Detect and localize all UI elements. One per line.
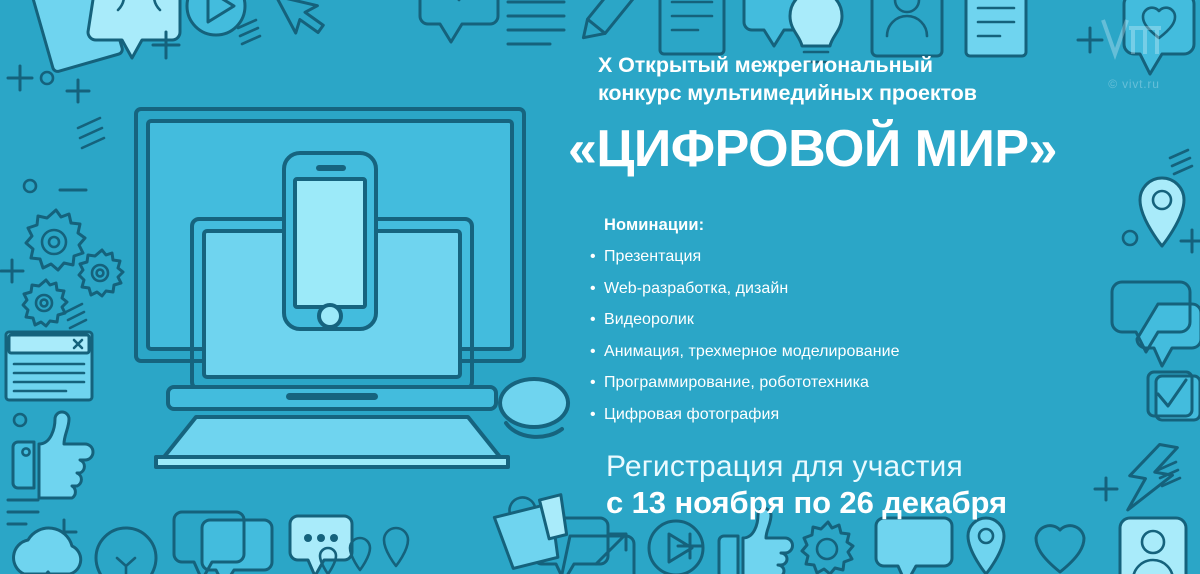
circle-dot-icon	[24, 180, 36, 192]
list-item-label: Программирование, робототехника	[604, 374, 869, 392]
list-item-label: Цифровая фотография	[604, 406, 779, 424]
circle-dot-icon	[14, 414, 26, 426]
gear-icon	[26, 210, 85, 270]
arrow-up-icon	[596, 534, 626, 564]
nominations-section: Номинации: • Презентация • Web-разработк…	[604, 216, 1158, 424]
heart-icon	[1036, 526, 1084, 572]
watermark-text: © vivt.ru	[1080, 77, 1188, 91]
bullet-icon: •	[590, 312, 604, 328]
watermark: © vivt.ru	[1080, 14, 1188, 106]
list-item: • Анимация, трехмерное моделирование	[590, 343, 1158, 361]
list-lines-icon	[508, 0, 564, 44]
shopping-bag-icon	[491, 488, 575, 570]
speed-lines-icon	[78, 118, 104, 148]
list-item: • Программирование, робототехника	[590, 374, 1158, 392]
browser-window-icon	[6, 332, 92, 400]
bullet-icon: •	[590, 344, 604, 360]
registration-dates: с 13 ноября по 26 декабря	[606, 486, 1158, 521]
page-title: «ЦИФРОВОЙ МИР»	[568, 122, 1158, 177]
avatar-icon	[1120, 518, 1186, 574]
gear-icon	[79, 250, 123, 296]
document-icon	[660, 0, 724, 54]
speed-lines-icon	[1170, 150, 1192, 174]
list-item-label: Видеоролик	[604, 311, 694, 329]
kicker-line-1: X Открытый межрегиональный	[598, 52, 1158, 80]
list-item-label: Анимация, трехмерное моделирование	[604, 343, 900, 361]
computer-mouse	[500, 379, 568, 437]
poster-canvas: .ln{fill:none;stroke:#15627c;stroke-widt…	[0, 0, 1200, 574]
nominations-heading: Номинации:	[604, 216, 1158, 235]
plus-icon	[1181, 230, 1200, 252]
list-item: • Цифровая фотография	[590, 406, 1158, 424]
play-button-icon	[187, 0, 245, 35]
smartphone	[284, 153, 376, 329]
text-column: X Открытый межрегиональный конкурс мульт…	[598, 52, 1158, 522]
user-card-icon	[872, 0, 942, 56]
registration-section: Регистрация для участия с 13 ноября по 2…	[606, 450, 1158, 520]
kicker: X Открытый межрегиональный конкурс мульт…	[598, 52, 1158, 108]
plus-icon	[67, 80, 89, 102]
cursor-arrow-icon	[276, 0, 329, 42]
plus-icon	[8, 66, 32, 90]
nominations-list: • Презентация • Web-разработка, дизайн •…	[604, 248, 1158, 424]
kicker-line-2: конкурс мультимедийных проектов	[598, 80, 1158, 108]
bullet-icon: •	[590, 281, 604, 297]
chat-bubble-icon	[290, 516, 352, 574]
list-item: • Презентация	[590, 248, 1158, 266]
gear-icon	[802, 522, 853, 574]
list-item: • Видеоролик	[590, 311, 1158, 329]
bullet-icon: •	[590, 407, 604, 423]
plus-icon	[1, 260, 23, 282]
pencil-icon	[578, 0, 641, 38]
cloud-upload-icon	[14, 528, 81, 574]
document-icon	[966, 0, 1026, 56]
gear-icon	[23, 280, 67, 326]
lightbulb-icon	[96, 528, 156, 574]
registration-label: Регистрация для участия	[606, 450, 1158, 484]
list-item: • Web-разработка, дизайн	[590, 280, 1158, 298]
speech-bubble-icon	[420, 0, 498, 42]
location-pin-icon	[968, 518, 1004, 574]
chat-bubble-icon	[876, 518, 952, 574]
list-item-label: Презентация	[604, 248, 701, 266]
bullet-icon: •	[590, 249, 604, 265]
speed-lines-icon	[238, 20, 260, 44]
chat-bubble-icon	[174, 512, 272, 574]
bullet-icon: •	[590, 375, 604, 391]
speed-lines-icon	[66, 304, 86, 328]
list-item-label: Web-разработка, дизайн	[604, 280, 788, 298]
devices-illustration: .dev-out{stroke:#16647f;stroke-width:4;s…	[130, 95, 600, 485]
vivt-logo	[1099, 14, 1169, 72]
location-pin-icon	[384, 528, 408, 566]
circle-dot-icon	[41, 72, 53, 84]
list-lines-icon	[8, 500, 38, 524]
